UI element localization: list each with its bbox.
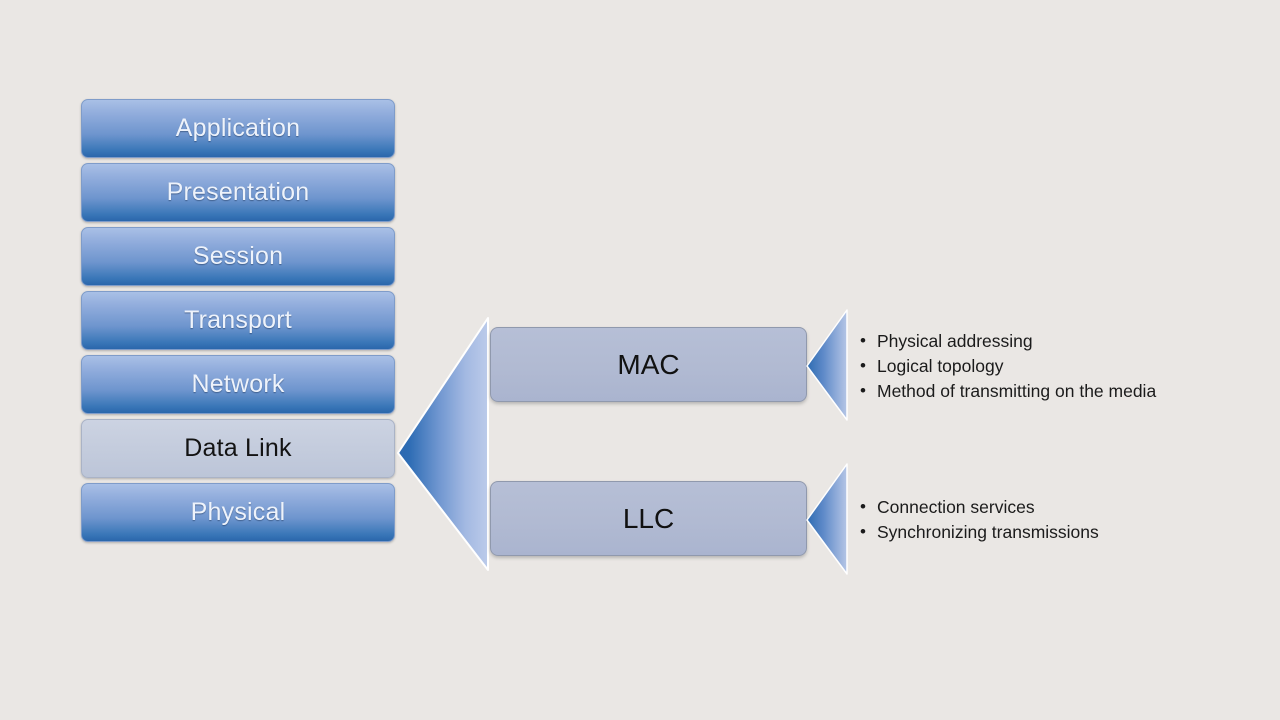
osi-layer-stack: Application Presentation Session Transpo… xyxy=(81,99,395,547)
bullet-item: Synchronizing transmissions xyxy=(858,520,1099,545)
mac-bullet-list: Physical addressing Logical topology Met… xyxy=(858,329,1156,404)
sublayer-box-mac[interactable]: MAC xyxy=(490,327,807,402)
osi-layer-label: Transport xyxy=(184,306,292,335)
osi-layer-transport[interactable]: Transport xyxy=(81,291,395,350)
osi-layer-presentation[interactable]: Presentation xyxy=(81,163,395,222)
osi-layer-label: Session xyxy=(193,242,283,271)
bullet-item: Physical addressing xyxy=(858,329,1156,354)
llc-bullet-list: Connection services Synchronizing transm… xyxy=(858,495,1099,545)
osi-layer-label: Application xyxy=(176,114,301,143)
large-left-pointing-arrow xyxy=(396,316,490,572)
osi-layer-network[interactable]: Network xyxy=(81,355,395,414)
llc-left-pointing-arrow xyxy=(806,463,848,575)
bullet-item: Connection services xyxy=(858,495,1099,520)
sublayer-label: LLC xyxy=(623,503,674,535)
bullet-item: Method of transmitting on the media xyxy=(858,379,1156,404)
bullet-item: Logical topology xyxy=(858,354,1156,379)
osi-layer-label: Presentation xyxy=(167,178,310,207)
mac-left-pointing-arrow xyxy=(806,309,848,421)
sublayer-box-llc[interactable]: LLC xyxy=(490,481,807,556)
osi-layer-physical[interactable]: Physical xyxy=(81,483,395,542)
osi-layer-label: Physical xyxy=(191,498,286,527)
osi-layer-session[interactable]: Session xyxy=(81,227,395,286)
sublayer-label: MAC xyxy=(617,349,679,381)
osi-layer-label: Data Link xyxy=(184,434,291,463)
diagram-canvas: Application Presentation Session Transpo… xyxy=(0,0,1280,720)
osi-layer-application[interactable]: Application xyxy=(81,99,395,158)
osi-layer-label: Network xyxy=(191,370,284,399)
osi-layer-data-link[interactable]: Data Link xyxy=(81,419,395,478)
